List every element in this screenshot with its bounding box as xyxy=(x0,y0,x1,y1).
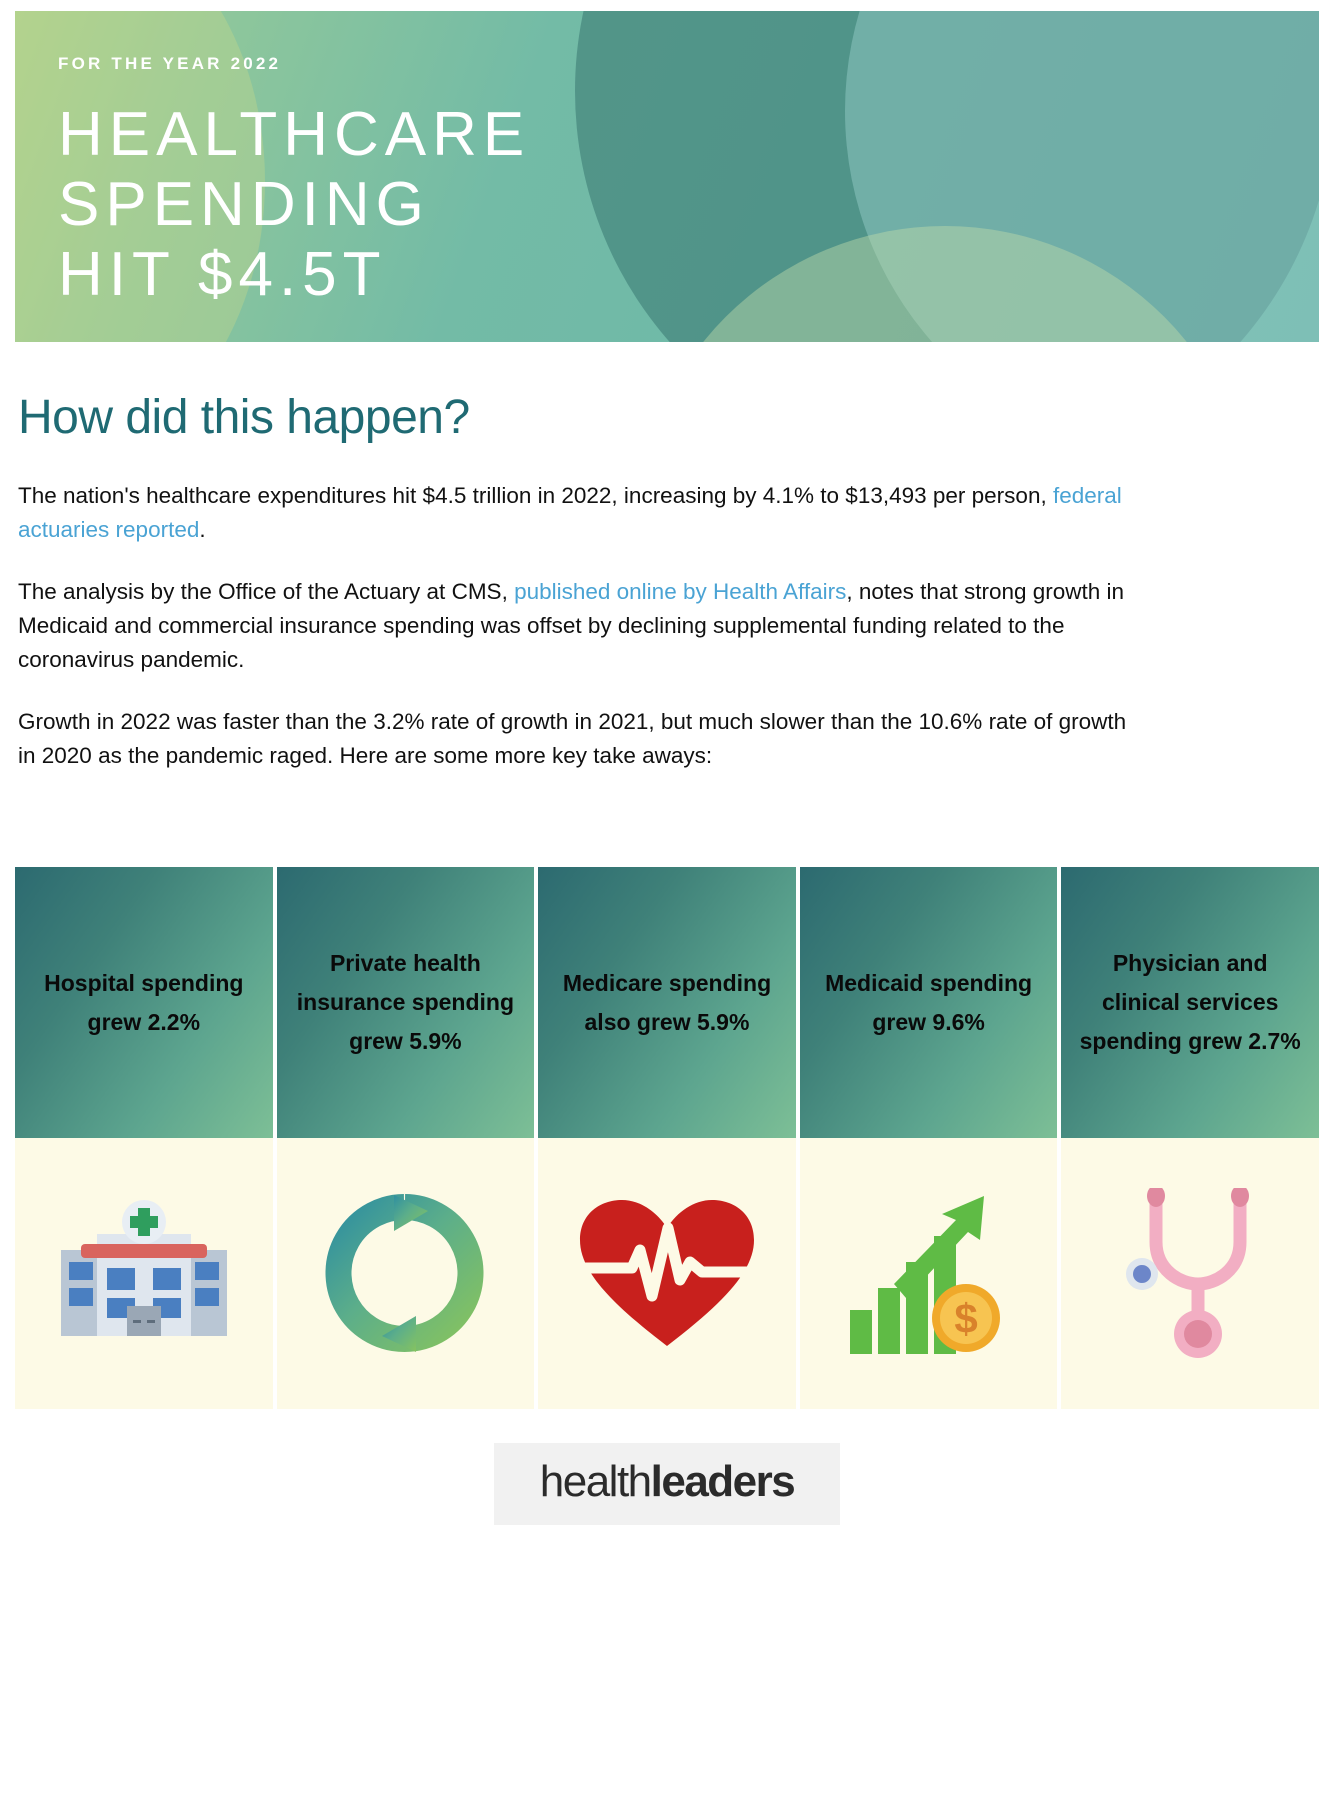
article-body: How did this happen? The nation's health… xyxy=(0,390,1334,773)
bar-chart-growth-dollar-icon: $ xyxy=(800,1138,1058,1409)
hero-content: FOR THE YEAR 2022 HEALTHCARE SPENDING HI… xyxy=(15,11,1319,310)
stat-card-medicare: Medicare spending also grew 5.9% xyxy=(538,867,796,1409)
stat-card-header: Medicaid spending grew 9.6% xyxy=(800,867,1058,1138)
stat-card-grid: Hospital spending grew 2.2% xyxy=(15,867,1319,1409)
stat-card-title: Hospital spending grew 2.2% xyxy=(27,964,261,1042)
hero-title-line-2: SPENDING xyxy=(58,170,1319,240)
stat-card-title: Physician and clinical services spending… xyxy=(1073,944,1307,1061)
hero-title-line-1: HEALTHCARE xyxy=(58,100,1319,170)
hero-eyebrow: FOR THE YEAR 2022 xyxy=(58,54,1319,74)
logo-text-bold: leaders xyxy=(651,1457,795,1506)
stat-card-header: Physician and clinical services spending… xyxy=(1061,867,1319,1138)
paragraph-2: The analysis by the Office of the Actuar… xyxy=(18,575,1148,677)
hero-banner: FOR THE YEAR 2022 HEALTHCARE SPENDING HI… xyxy=(15,11,1319,342)
stat-card-medicaid: Medicaid spending grew 9.6% $ xyxy=(800,867,1058,1409)
stat-card-title: Private health insurance spending grew 5… xyxy=(289,944,523,1061)
logo-wordmark: healthleaders xyxy=(540,1457,795,1506)
stat-card-physician-clinical: Physician and clinical services spending… xyxy=(1061,867,1319,1409)
paragraph-2-text-before: The analysis by the Office of the Actuar… xyxy=(18,579,514,604)
stat-card-hospital: Hospital spending grew 2.2% xyxy=(15,867,273,1409)
stat-card-title: Medicare spending also grew 5.9% xyxy=(550,964,784,1042)
paragraph-3: Growth in 2022 was faster than the 3.2% … xyxy=(18,705,1148,773)
paragraph-1-text-after: . xyxy=(199,517,205,542)
page-title: How did this happen? xyxy=(18,390,1316,445)
stat-card-header: Hospital spending grew 2.2% xyxy=(15,867,273,1138)
footer: healthleaders xyxy=(0,1439,1334,1529)
svg-text:$: $ xyxy=(954,1295,977,1342)
stat-card-private-insurance: Private health insurance spending grew 5… xyxy=(277,867,535,1409)
paragraph-1: The nation's healthcare expenditures hit… xyxy=(18,479,1148,547)
stethoscope-icon xyxy=(1061,1138,1319,1409)
heart-pulse-icon xyxy=(538,1138,796,1409)
paragraph-1-text-before: The nation's healthcare expenditures hit… xyxy=(18,483,1053,508)
page-root: FOR THE YEAR 2022 HEALTHCARE SPENDING HI… xyxy=(0,0,1334,1800)
recycle-cycle-arrows-icon xyxy=(277,1138,535,1409)
healthleaders-logo[interactable]: healthleaders xyxy=(494,1443,841,1525)
logo-text-light: health xyxy=(540,1457,651,1506)
hospital-building-icon xyxy=(15,1138,273,1409)
stat-card-header: Private health insurance spending grew 5… xyxy=(277,867,535,1138)
hero-title: HEALTHCARE SPENDING HIT $4.5T xyxy=(58,100,1319,310)
stat-card-title: Medicaid spending grew 9.6% xyxy=(812,964,1046,1042)
stat-card-header: Medicare spending also grew 5.9% xyxy=(538,867,796,1138)
hero-title-line-3: HIT $4.5T xyxy=(58,240,1319,310)
link-published-online-by-health-affairs[interactable]: published online by Health Affairs xyxy=(514,579,846,604)
